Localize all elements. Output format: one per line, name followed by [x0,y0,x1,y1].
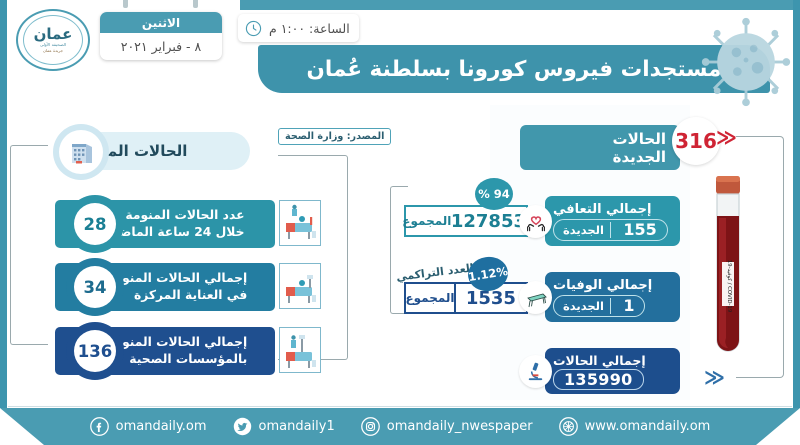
source-chip: المصدر: وزارة الصحة [278,128,391,145]
blood-test-tube-icon: COVID-19 / كوفيد-19 [700,168,756,364]
deaths-stat-row: إجمالي الوفيات 1 الجديدة [545,272,680,322]
footer-facebook-label: omandaily.om [116,419,207,434]
date-card-peg-2 [193,0,198,8]
label-line-2: خلال 24 ساعة الماضية [107,224,244,241]
microscope-icon [519,355,552,388]
hospitalized-row-facilities-label: إجمالي الحالات المنومة بالمؤسسات الصحية [107,334,247,367]
clock-card: الساعة: ١:٠٠ م [238,14,359,42]
hospitalized-row-24h-value: 28 [74,203,116,245]
label-line-1: إجمالي الحالات المنومة [107,270,247,287]
recovery-percent-badge: 94 % [475,178,513,210]
new-cases-header-label: الحالات الجديدة [556,130,666,166]
hospital-bed-icon [279,200,321,246]
page-title-text: مستجدات فيروس كورونا بسلطنة عُمان [307,57,722,82]
clock-label: الساعة: ١:٠٠ م [269,21,350,36]
logo-wordmark: عمان [34,27,73,42]
deaths-new-label: الجديدة [558,299,604,313]
total-cases-value: 135990 [564,370,633,389]
recovery-total-value: 127853 [451,207,526,235]
recovery-new-value: 155 [617,220,662,239]
total-cases-title: إجمالي الحالات [553,353,646,368]
label-line-1: إجمالي الحالات المنومة [107,334,247,351]
date-weekday: الاثنين [100,12,222,33]
footer-item-facebook[interactable]: omandaily.om [90,417,207,436]
hospital-building-icon-inner [59,130,103,174]
header-white-cut [0,0,240,12]
oman-daily-logo: عمان الصحيفة الأولى جريدة عمان [16,9,90,71]
logo-inner-ring: عمان الصحيفة الأولى جريدة عمان [23,15,83,65]
hospitalized-row-24h-label: عدد الحالات المنومة خلال 24 ساعة الماضية [107,207,244,240]
recovery-new-pill: 155 الجديدة [553,219,668,241]
hospitalized-row-icu: 34 إجمالي الحالات المنومة في العناية الم… [55,263,275,311]
heart-in-hands-icon [519,205,552,238]
logo-subtitle-2: جريدة عمان [43,49,63,53]
footer-item-website[interactable]: www.omandaily.om [559,417,711,436]
footer-twitter-label: omandaily1 [259,419,335,434]
double-chevron-left-icon: ≪ [704,367,725,387]
recovery-total-box: 127853 المجموع [404,205,528,237]
facebook-icon [90,417,109,436]
frame-right-bar [793,0,800,445]
divider [610,298,611,314]
divider [610,222,611,238]
deaths-total-box: 1535 المجموع [404,282,528,314]
tube-label: COVID-19 / كوفيد-19 [726,260,733,313]
twitter-icon [233,417,252,436]
footer-item-instagram[interactable]: omandaily_nwespaper [361,417,533,436]
footer-links: omandaily.om omandaily1 omandaily_nw [0,408,800,445]
instagram-icon [361,417,380,436]
hospital-building-icon [53,124,109,180]
frame-left-bar [0,0,7,445]
label-line-2: في العناية المركزة [107,287,247,304]
deaths-total-label: المجموع [406,284,454,312]
date-value: ٨ - فبراير ٢٠٢١ [100,33,222,60]
clock-icon [245,20,262,37]
hospitalized-row-facilities-badge: 136 [66,322,124,380]
coronavirus-icon [698,14,794,110]
deaths-new-pill: 1 الجديدة [553,295,645,317]
deaths-title: إجمالي الوفيات [553,278,652,293]
recovery-new-label: الجديدة [558,223,604,237]
hospitalized-row-icu-label: إجمالي الحالات المنومة في العناية المركز… [107,270,247,303]
hospitalized-row-24h-badge: 28 [66,195,124,253]
hospitalized-row-icu-badge: 34 [66,258,124,316]
date-card-peg-1 [123,0,128,8]
new-cases-badge: 316 [672,117,720,165]
total-cases-pill: 135990 [553,369,644,390]
hospitalized-row-24h: 28 عدد الحالات المنومة خلال 24 ساعة الما… [55,200,275,248]
new-cases-header: الحالات الجديدة [520,125,680,170]
footer-item-twitter[interactable]: omandaily1 [233,417,335,436]
recovery-stat-row: إجمالي التعافي 155 الجديدة [545,196,680,246]
footer-divider [8,406,792,407]
deaths-new-value: 1 [617,296,640,315]
footer-instagram-label: omandaily_nwespaper [387,419,533,434]
hospitalized-row-icu-value: 34 [74,266,116,308]
infographic-canvas: عمان الصحيفة الأولى جريدة عمان الاثنين ٨… [0,0,800,445]
hospital-bed-icon [279,263,321,309]
page-title: مستجدات فيروس كورونا بسلطنة عُمان [258,45,770,93]
hospitalized-bracket-left [10,145,48,345]
date-card: الاثنين ٨ - فبراير ٢٠٢١ [100,12,222,60]
double-chevron-left-icon: ≪ [716,127,737,147]
total-cases-row: إجمالي الحالات 135990 [545,348,680,394]
hospital-bed-icon [279,327,321,373]
new-cases-badge-value: 316 [675,129,717,153]
globe-icon [559,417,578,436]
hospital-stretcher-icon [519,281,552,314]
hospitalized-row-facilities-value: 136 [74,330,116,372]
footer-website-label: www.omandaily.om [585,419,711,434]
recovery-title: إجمالي التعافي [553,202,652,217]
recovery-total-label: المجموع [403,207,451,235]
label-line-2: بالمؤسسات الصحية [107,351,247,368]
logo-subtitle: الصحيفة الأولى [40,43,66,48]
label-line-1: عدد الحالات المنومة [107,207,244,224]
hospitalized-row-facilities: 136 إجمالي الحالات المنومة بالمؤسسات الص… [55,327,275,375]
